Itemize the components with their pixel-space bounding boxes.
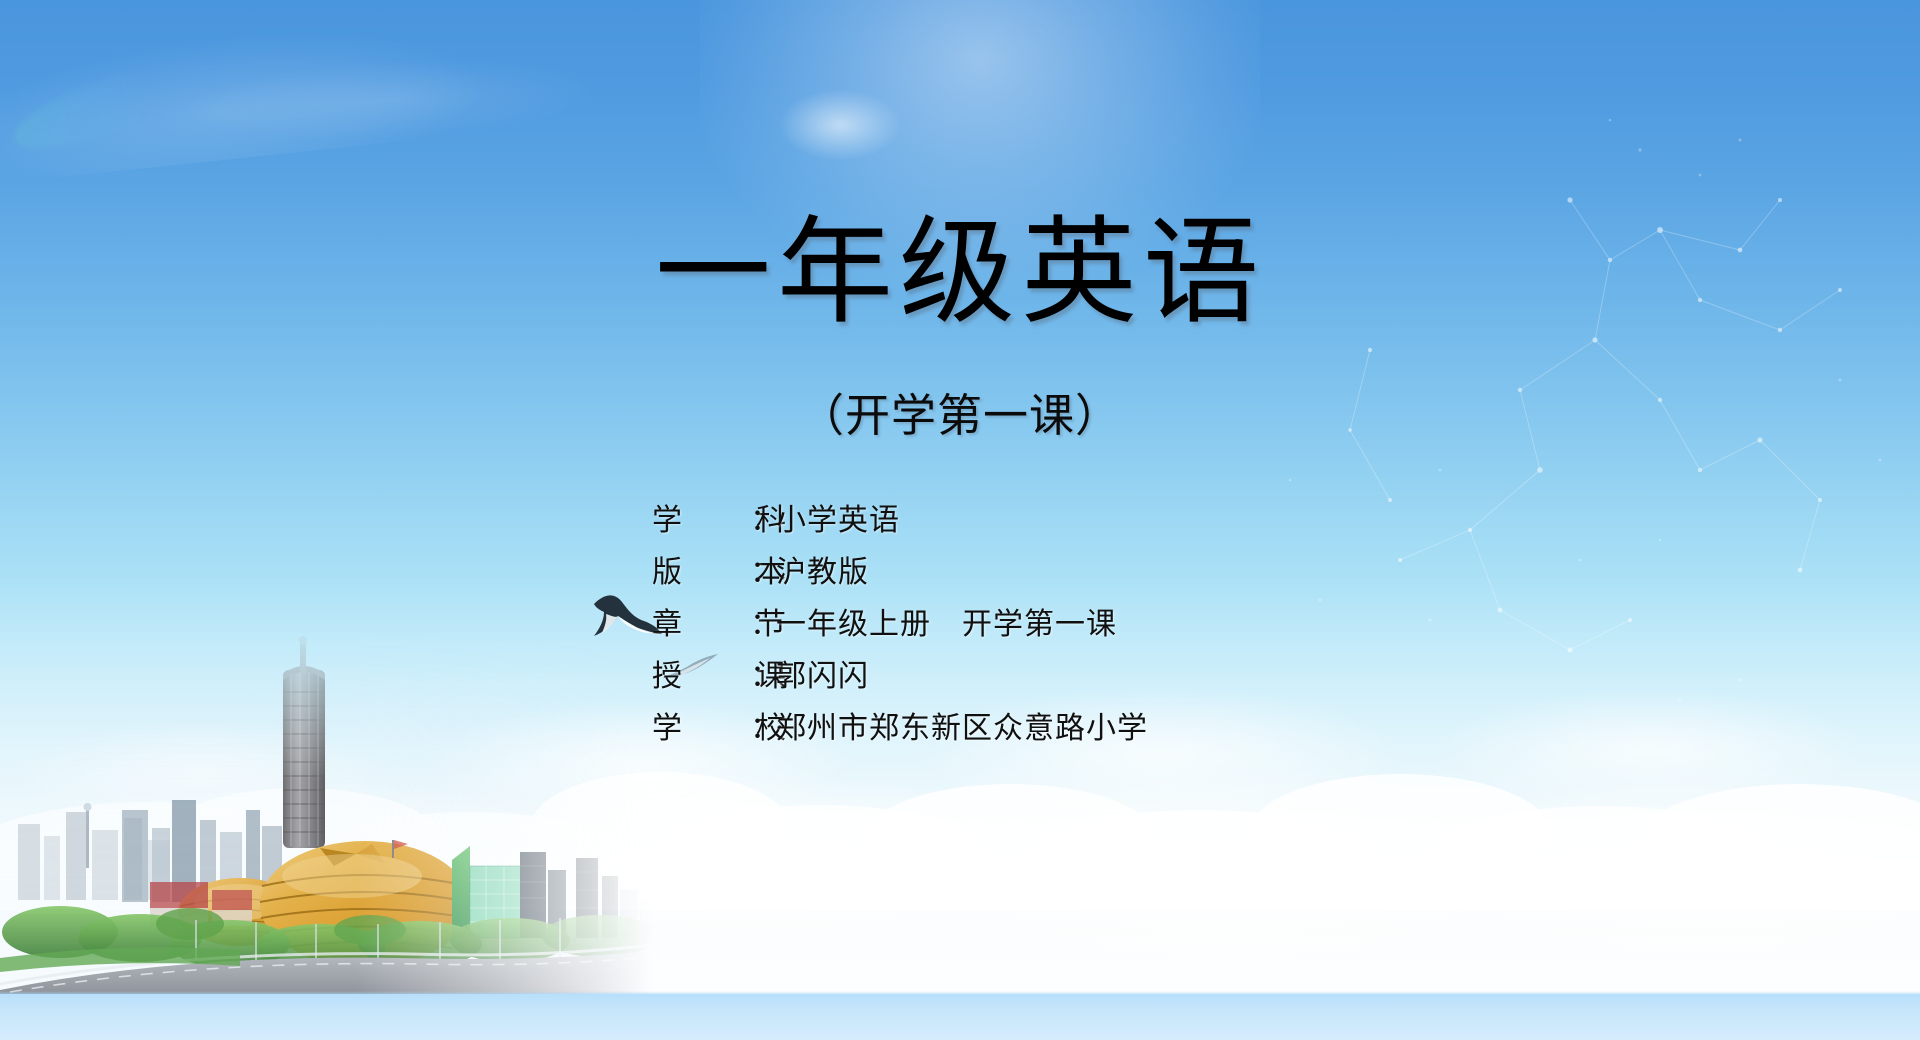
info-row-teacher: 授 课 ： 郭闪闪 (652, 651, 1652, 703)
info-label-edition: 版 本 (652, 547, 764, 591)
info-colon: ： (750, 651, 776, 695)
presentation-slide: 一年级英语 （开学第一课） 学 科 ： 小学英语 版 本 ： 沪教版 章 节 ：… (0, 0, 1920, 1040)
info-label-chapter: 章 节 (652, 599, 764, 643)
info-colon: ： (750, 703, 776, 747)
info-colon: ： (750, 495, 776, 539)
cloud-wisp-decoration (178, 49, 602, 151)
info-label-teacher: 授 课 (652, 651, 764, 695)
bottom-band-edge (0, 991, 1920, 994)
info-row-subject: 学 科 ： 小学英语 (652, 495, 1652, 547)
slide-title: 一年级英语 (0, 212, 1920, 337)
course-info-block: 学 科 ： 小学英语 版 本 ： 沪教版 章 节 ： 一年级上册 开学第一课 授… (652, 495, 1652, 755)
zhengzhou-cityscape-image (0, 614, 660, 994)
info-label-subject: 学 科 (652, 495, 764, 539)
sun-core-decoration (780, 90, 900, 160)
slide-subtitle: （开学第一课） (0, 392, 1920, 442)
cloud-wisp-decoration (0, 13, 485, 187)
info-value-teacher: 郭闪闪 (776, 651, 869, 695)
info-value-chapter: 一年级上册 开学第一课 (776, 599, 1117, 643)
info-label-school: 学 校 (652, 703, 764, 747)
info-colon: ： (750, 599, 776, 643)
info-value-subject: 小学英语 (776, 495, 900, 539)
info-colon: ： (750, 547, 776, 591)
teal-streak-decoration (6, 60, 184, 162)
info-value-edition: 沪教版 (776, 547, 869, 591)
info-row-chapter: 章 节 ： 一年级上册 开学第一课 (652, 599, 1652, 651)
bottom-band (0, 994, 1920, 1040)
info-row-edition: 版 本 ： 沪教版 (652, 547, 1652, 599)
info-row-school: 学 校 ： 郑州市郑东新区众意路小学 (652, 703, 1652, 755)
info-value-school: 郑州市郑东新区众意路小学 (776, 703, 1148, 747)
